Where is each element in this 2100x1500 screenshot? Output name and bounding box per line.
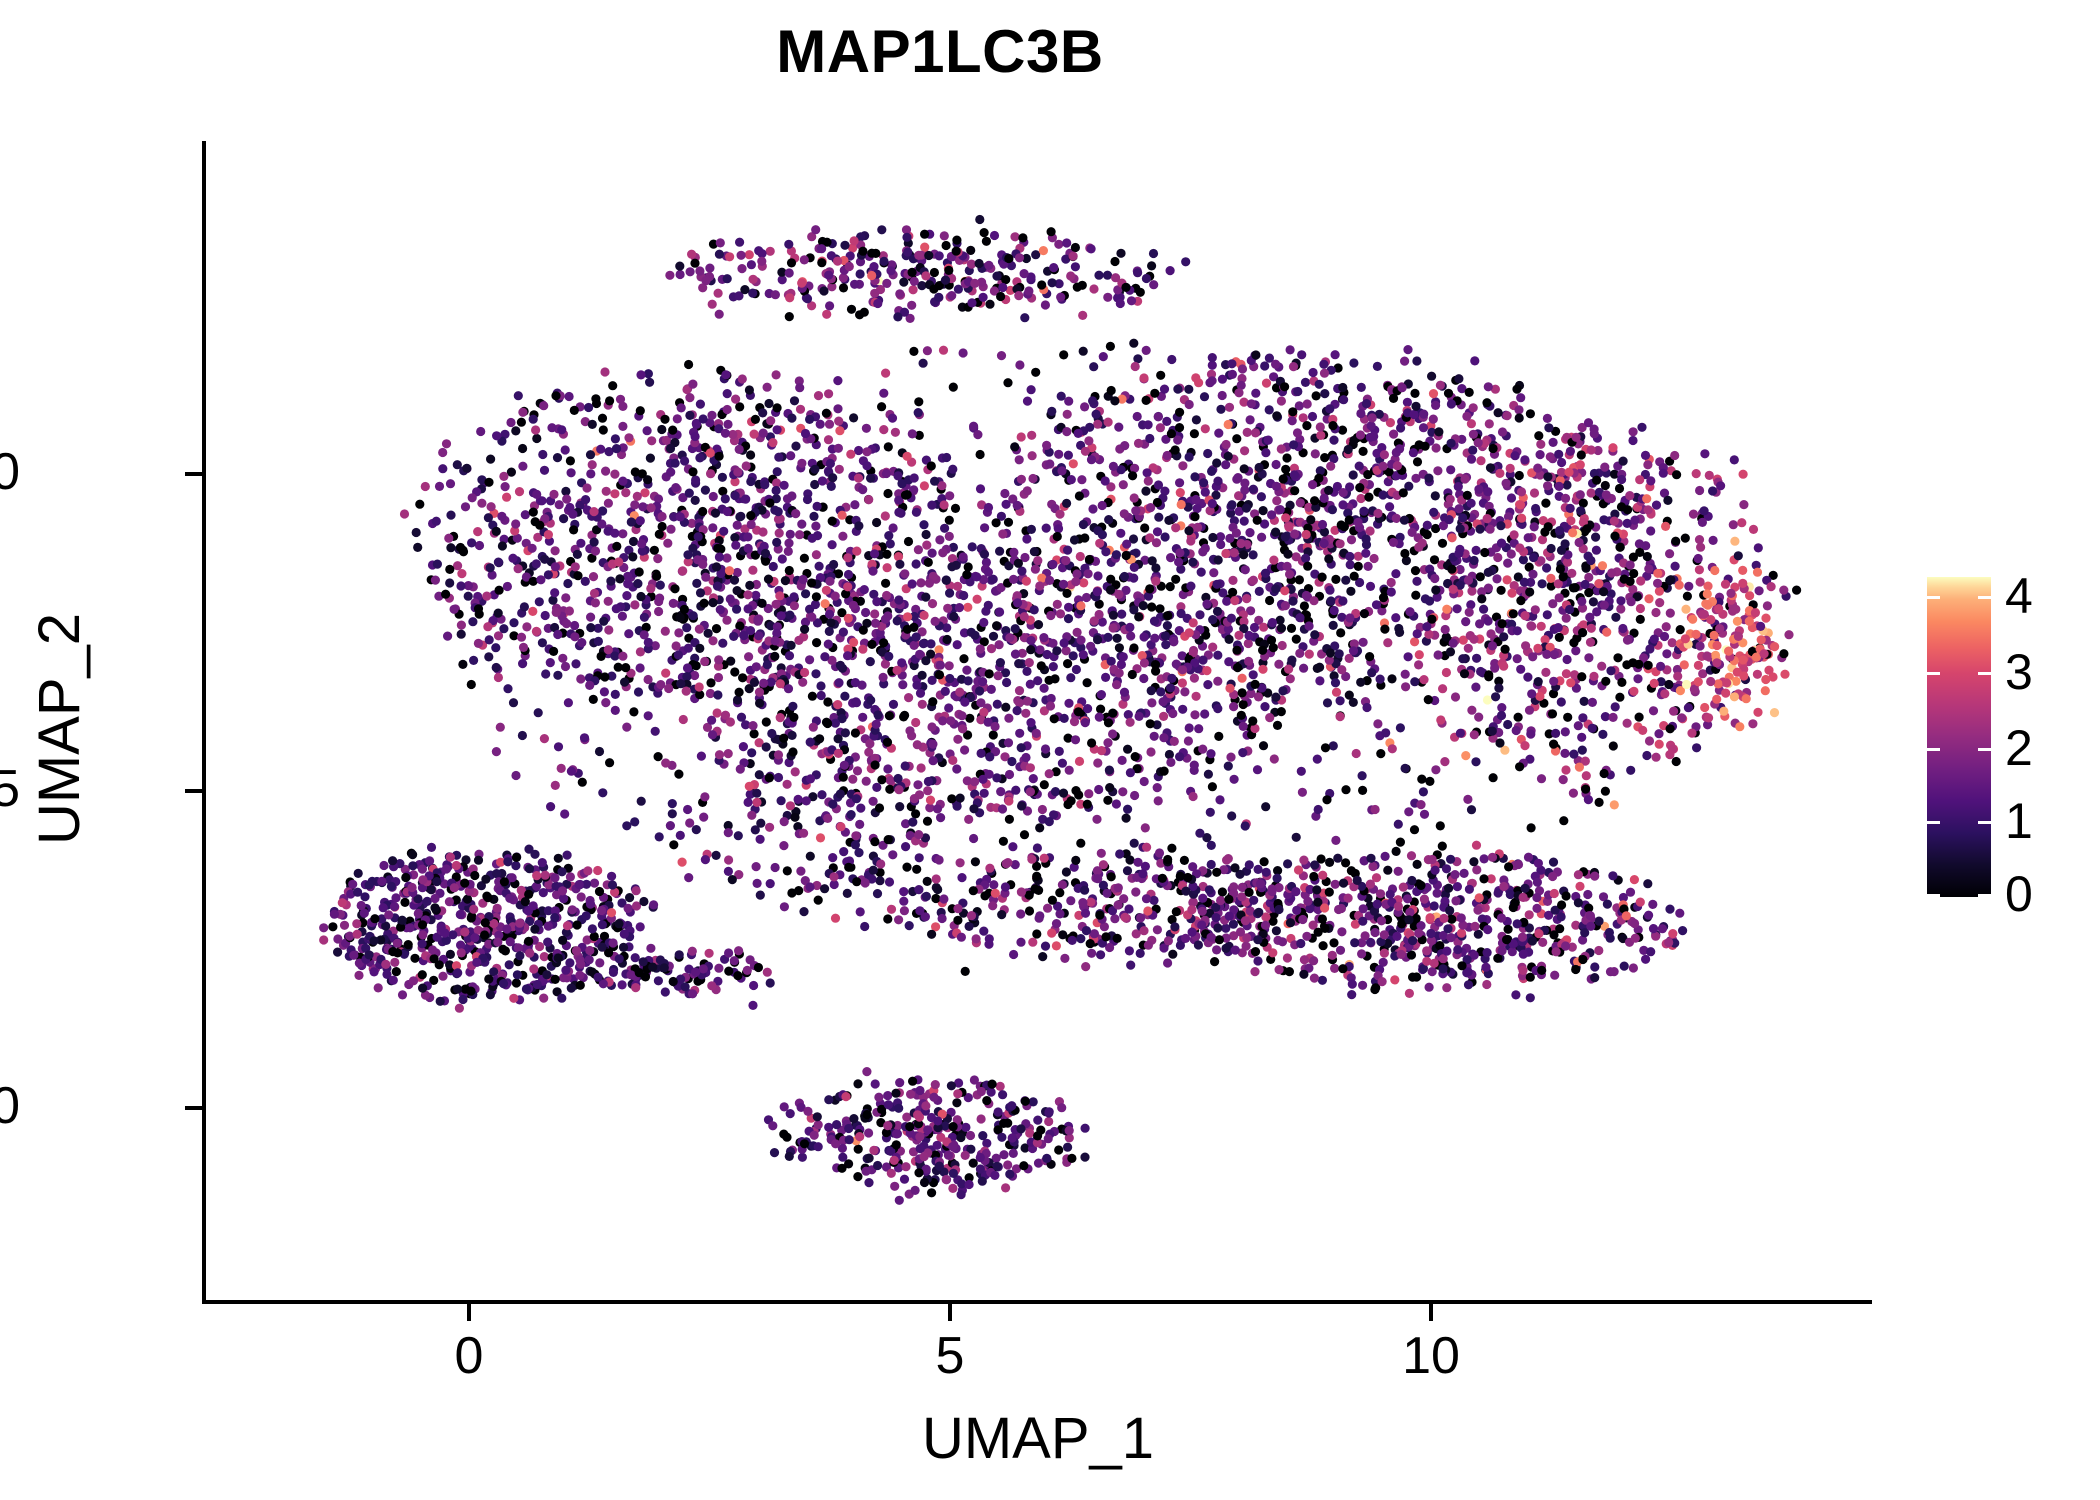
y-tick-label-0: 0 bbox=[0, 1080, 20, 1132]
x-tick-label-5: 5 bbox=[850, 1330, 1050, 1382]
scatter-points-layer bbox=[204, 141, 1872, 1302]
colorbar-gradient bbox=[1927, 577, 1991, 897]
x-axis-line bbox=[202, 1300, 1872, 1304]
x-tick-mark-0 bbox=[467, 1304, 471, 1321]
y-tick-mark-5 bbox=[185, 789, 202, 793]
colorbar-label-1: 1 bbox=[2005, 796, 2075, 846]
colorbar-label-0: 0 bbox=[2005, 869, 2075, 919]
y-tick-label-5: 5 bbox=[0, 763, 20, 815]
scatter-plot-panel bbox=[204, 141, 1872, 1302]
figure-root: MAP1LC3B 10 5 0 0 5 10 UMAP_1 UMAP_2 4 3… bbox=[0, 0, 2100, 1500]
x-tick-label-0: 0 bbox=[369, 1330, 569, 1382]
y-axis-line bbox=[202, 141, 206, 1304]
y-axis-title: UMAP_2 bbox=[31, 149, 89, 1309]
colorbar-legend: 4 3 2 1 0 bbox=[1927, 577, 2077, 897]
page-title: MAP1LC3B bbox=[0, 22, 1880, 82]
y-tick-label-10: 10 bbox=[0, 446, 20, 498]
y-tick-mark-0 bbox=[185, 1106, 202, 1110]
x-tick-label-10: 10 bbox=[1331, 1330, 1531, 1382]
y-tick-mark-10 bbox=[185, 472, 202, 476]
colorbar-label-3: 3 bbox=[2005, 647, 2075, 697]
x-tick-mark-10 bbox=[1429, 1304, 1433, 1321]
colorbar-label-4: 4 bbox=[2005, 571, 2075, 621]
x-axis-title: UMAP_1 bbox=[204, 1410, 1872, 1468]
colorbar-label-2: 2 bbox=[2005, 723, 2075, 773]
x-tick-mark-5 bbox=[948, 1304, 952, 1321]
